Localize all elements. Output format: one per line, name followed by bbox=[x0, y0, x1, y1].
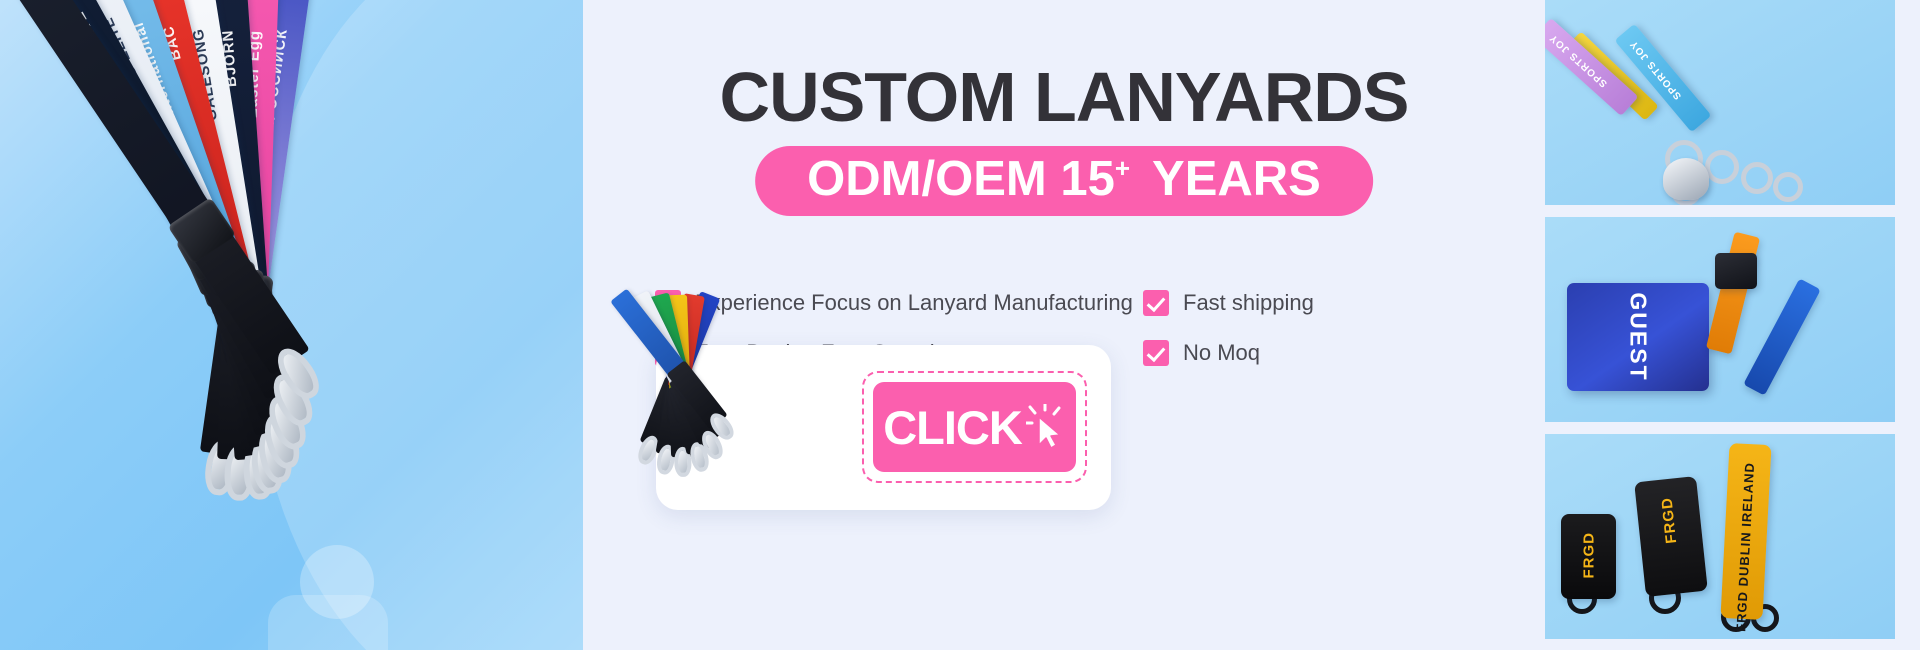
frgd-strap-label: FRGD bbox=[1580, 532, 1597, 579]
mouse-cursor-icon bbox=[1026, 404, 1066, 450]
split-ring bbox=[1705, 150, 1739, 184]
feature-item: No Moq bbox=[1143, 332, 1433, 374]
guest-badge-label: GUEST bbox=[1625, 292, 1652, 381]
frgd-strap: FRGD bbox=[1561, 514, 1616, 599]
split-ring bbox=[1773, 172, 1803, 202]
promo-banner: EG ELITEEG ELITELions Clubs Internationa… bbox=[0, 0, 1920, 650]
orange-lanyard-strap bbox=[1706, 232, 1760, 355]
lanyard-fan: EG ELITEEG ELITELions Clubs Internationa… bbox=[0, 0, 580, 650]
subtitle-superscript: + bbox=[1115, 153, 1130, 184]
frgd-strap-label: FRGD bbox=[1658, 496, 1680, 544]
guest-badge-card: GUEST bbox=[1567, 283, 1709, 391]
split-ring bbox=[1741, 162, 1773, 194]
click-button-label: CLICK bbox=[883, 404, 1022, 451]
feature-label: Fast shipping bbox=[1183, 290, 1314, 316]
flag-lanyard-bundle-photo bbox=[596, 295, 826, 510]
feature-label: No Moq bbox=[1183, 340, 1260, 366]
lanyard-buckle bbox=[1715, 253, 1757, 289]
page-title: CUSTOM LANYARDS bbox=[720, 62, 1409, 132]
thumbnail-guest-badge[interactable]: GUEST bbox=[1545, 217, 1895, 422]
frgd-strap-label: FRGD DUBLIN IRELAND bbox=[1733, 462, 1757, 632]
thumbnail-frgd[interactable]: FRGDFRGDFRGD DUBLIN IRELAND bbox=[1545, 434, 1895, 639]
check-icon bbox=[1143, 340, 1169, 366]
click-button[interactable]: CLICK bbox=[862, 371, 1087, 483]
check-icon bbox=[1143, 290, 1169, 316]
subtitle-pill: ODM/OEM 15 + YEARS bbox=[755, 146, 1373, 216]
bell-charm bbox=[1663, 158, 1709, 200]
left-product-photo: EG ELITEEG ELITELions Clubs Internationa… bbox=[0, 0, 583, 650]
thumbnail-sports-joy[interactable]: SPORTS JOYSPORTS JOY bbox=[1545, 0, 1895, 205]
cta-card: CLICK bbox=[656, 345, 1111, 510]
blue-lanyard-strap bbox=[1743, 278, 1821, 395]
banner-center: CUSTOM LANYARDS ODM/OEM 15 + YEARS Exper… bbox=[583, 0, 1545, 650]
click-button-inner[interactable]: CLICK bbox=[873, 382, 1076, 472]
frgd-strap: FRGD DUBLIN IRELAND bbox=[1720, 443, 1771, 620]
subtitle-main: ODM/OEM 15 bbox=[807, 155, 1115, 204]
feature-item: Fast shipping bbox=[1143, 282, 1433, 324]
thumbnail-column: SPORTS JOYSPORTS JOY GUEST FRGDFRGDFRGD … bbox=[1545, 0, 1920, 650]
subtitle-years: YEARS bbox=[1152, 155, 1321, 204]
frgd-strap: FRGD bbox=[1634, 476, 1708, 597]
